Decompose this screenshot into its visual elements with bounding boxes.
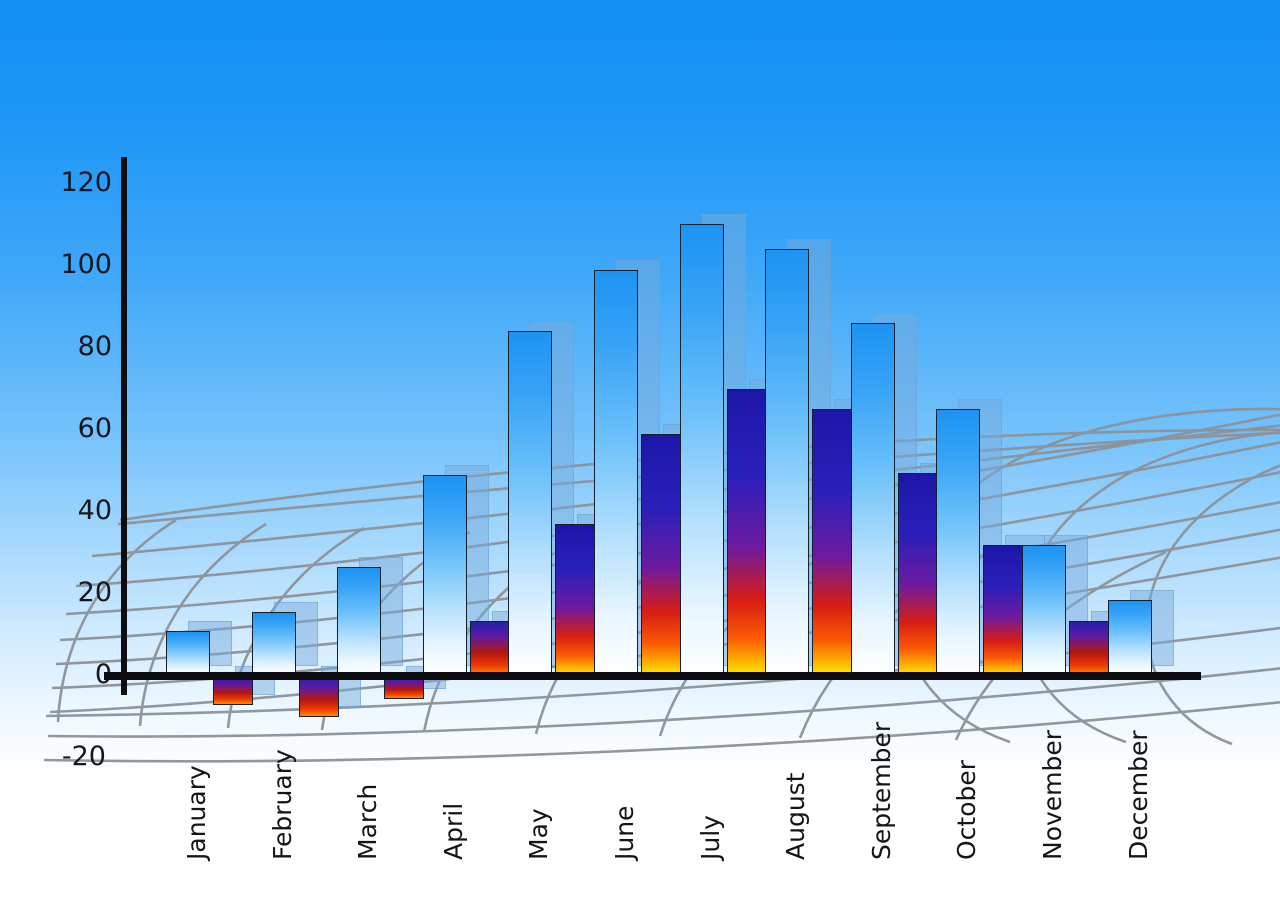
bar-face [1069,621,1109,676]
y-tick-label-60: 60 [46,413,112,444]
bar-july-series2[interactable] [727,389,767,676]
bar-may-series2[interactable] [555,524,595,676]
bar-october-series1[interactable] [936,409,980,676]
x-label-march: March [353,784,382,860]
bar-face [765,249,809,676]
x-label-december: December [1124,730,1153,860]
bar-face [423,475,467,676]
bar-face [213,676,253,705]
x-label-june: June [610,806,639,860]
x-label-february: February [268,749,297,860]
y-tick-label-120: 120 [46,167,112,198]
bar-october-series2[interactable] [983,545,1023,676]
plot-area: 120 100 80 60 40 20 0 -20 JanuaryFebruar… [0,0,1280,905]
bar-march-series1[interactable] [337,567,381,676]
bar-august-series1[interactable] [765,249,809,676]
bar-face [812,409,852,676]
bar-may-series1[interactable] [508,331,552,676]
bar-january-series1[interactable] [166,631,210,676]
x-label-august: August [781,773,810,861]
bar-face [508,331,552,676]
y-tick-label-80: 80 [46,331,112,362]
bar-face [252,612,296,676]
bar-june-series1[interactable] [594,270,638,676]
y-tick-label-100: 100 [46,249,112,280]
bar-september-series1[interactable] [851,323,895,676]
chart-canvas: 120 100 80 60 40 20 0 -20 JanuaryFebruar… [0,0,1280,905]
bar-face [1108,600,1152,676]
bar-face [299,676,339,717]
bar-face [555,524,595,676]
bar-face [470,621,510,676]
y-axis-line [121,157,127,695]
bar-face [898,473,938,676]
bar-december-series1[interactable] [1108,600,1152,676]
bar-face [337,567,381,676]
x-label-january: January [182,765,211,860]
bar-november-series1[interactable] [1022,545,1066,676]
bar-face [1022,545,1066,676]
bar-february-series1[interactable] [252,612,296,676]
y-tick-label-0: 0 [46,659,112,690]
bar-june-series2[interactable] [641,434,681,676]
x-label-april: April [439,803,468,860]
bar-february-series2[interactable] [299,676,339,717]
y-tick-label-neg20: -20 [40,741,106,772]
bar-face [936,409,980,676]
bar-april-series1[interactable] [423,475,467,676]
x-label-november: November [1038,730,1067,860]
bar-april-series2[interactable] [470,621,510,676]
bar-face [641,434,681,676]
x-label-september: September [867,722,896,860]
bar-january-series2[interactable] [213,676,253,705]
x-label-may: May [524,808,553,860]
bar-face [166,631,210,676]
y-tick-label-40: 40 [46,495,112,526]
bar-july-series1[interactable] [680,224,724,676]
bar-november-series2[interactable] [1069,621,1109,676]
bar-face [983,545,1023,676]
x-label-october: October [952,760,981,860]
bar-face [851,323,895,676]
x-label-july: July [696,815,725,860]
bar-face [680,224,724,676]
bar-september-series2[interactable] [898,473,938,676]
bar-face [594,270,638,676]
bar-august-series2[interactable] [812,409,852,676]
x-axis-line [104,672,1201,680]
y-tick-label-20: 20 [46,577,112,608]
bar-face [727,389,767,676]
